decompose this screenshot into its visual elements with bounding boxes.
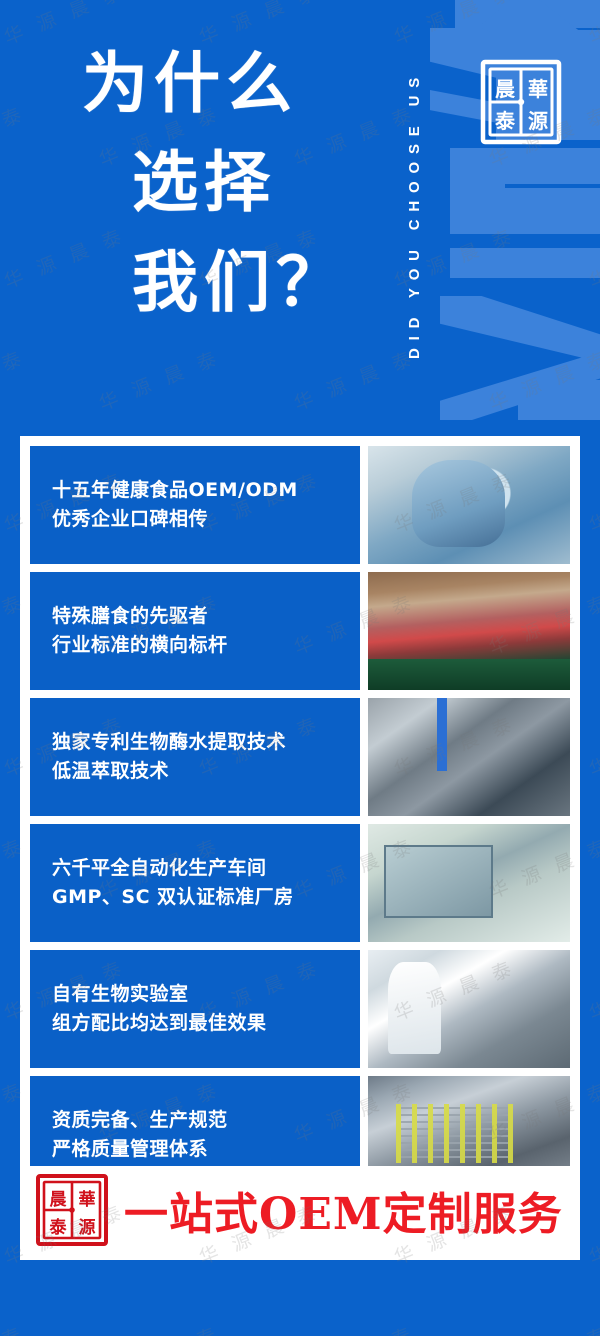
feature-line-1: 独家专利生物酶水提取技术 <box>52 728 360 757</box>
feature-text-block: 自有生物实验室 组方配比均达到最佳效果 <box>30 950 360 1068</box>
svg-text:源: 源 <box>79 1217 96 1238</box>
feature-photo <box>368 824 570 942</box>
feature-row[interactable]: 自有生物实验室 组方配比均达到最佳效果 <box>30 950 570 1068</box>
feature-row[interactable]: 特殊膳食的先驱者 行业标准的横向标杆 <box>30 572 570 690</box>
vertical-english-text: DID YOU CHOOSE US <box>407 69 424 358</box>
feature-text-block: 特殊膳食的先驱者 行业标准的横向标杆 <box>30 572 360 690</box>
vertical-english-subtitle: DID YOU CHOOSE US <box>402 28 428 400</box>
svg-text:華: 華 <box>79 1190 96 1210</box>
feature-row[interactable]: 六千平全自动化生产车间 GMP、SC 双认证标准厂房 <box>30 824 570 942</box>
deco-shape-h-1 <box>450 148 600 184</box>
svg-text:晨: 晨 <box>495 77 516 101</box>
features-panel: 十五年健康食品OEM/ODM 优秀企业口碑相传 特殊膳食的先驱者 行业标准的横向… <box>20 436 580 1260</box>
company-seal-white-icon: 晨 泰 華 源 <box>478 56 564 148</box>
poster-root: 为什么 选择 我们？ DID YOU CHOOSE US 晨 泰 華 源 <box>0 0 600 1336</box>
feature-text-block: 十五年健康食品OEM/ODM 优秀企业口碑相传 <box>30 446 360 564</box>
deco-shape-h-4 <box>450 248 600 278</box>
feature-line-1: 资质完备、生产规范 <box>52 1106 360 1135</box>
feature-photo <box>368 572 570 690</box>
feature-line-1: 自有生物实验室 <box>52 980 360 1009</box>
svg-text:晨: 晨 <box>50 1190 68 1210</box>
watermark-text: 华 源 晨 泰 <box>95 1319 225 1336</box>
watermark-text: 华 源 晨 泰 <box>95 343 225 416</box>
feature-line-2: GMP、SC 双认证标准厂房 <box>52 883 360 912</box>
company-seal-red-icon: 晨 泰 華 源 <box>34 1171 110 1249</box>
footer-slogan-text: 一站式OEM定制服务 <box>124 1178 563 1242</box>
watermark-text: 华 源 晨 泰 <box>195 0 325 50</box>
svg-text:華: 華 <box>528 77 548 101</box>
deco-shape-h-3 <box>505 188 600 234</box>
watermark-text: 华 源 晨 泰 <box>0 1319 29 1336</box>
watermark-text: 华 源 晨 泰 <box>585 465 600 538</box>
svg-text:源: 源 <box>528 109 548 133</box>
watermark-text: 华 源 晨 泰 <box>585 1197 600 1270</box>
watermark-text: 华 源 晨 泰 <box>585 953 600 1026</box>
feature-row[interactable]: 独家专利生物酶水提取技术 低温萃取技术 <box>30 698 570 816</box>
features-list: 十五年健康食品OEM/ODM 优秀企业口碑相传 特殊膳食的先驱者 行业标准的横向… <box>30 446 570 1194</box>
watermark-text: 华 源 晨 泰 <box>485 343 600 416</box>
watermark-text: 华 源 晨 泰 <box>485 1319 600 1336</box>
watermark-text: 华 源 晨 泰 <box>0 343 29 416</box>
deco-shape-w-2 <box>440 0 600 60</box>
feature-line-2: 行业标准的横向标杆 <box>52 631 360 660</box>
svg-text:泰: 泰 <box>50 1217 68 1238</box>
watermark-text: 华 源 晨 泰 <box>585 709 600 782</box>
feature-line-2: 优秀企业口碑相传 <box>52 505 360 534</box>
headline-line-3: 我们？ <box>132 249 348 316</box>
watermark-text: 华 源 晨 泰 <box>290 343 420 416</box>
feature-line-2: 组方配比均达到最佳效果 <box>52 1009 360 1038</box>
headline-line-2: 选择 <box>132 149 348 216</box>
watermark-text: 华 源 晨 泰 <box>290 1319 420 1336</box>
feature-row[interactable]: 十五年健康食品OEM/ODM 优秀企业口碑相传 <box>30 446 570 564</box>
deco-shape-y-1 <box>440 296 600 362</box>
deco-shape-y-2 <box>440 346 600 420</box>
feature-photo <box>368 446 570 564</box>
feature-text-block: 六千平全自动化生产车间 GMP、SC 双认证标准厂房 <box>30 824 360 942</box>
svg-text:泰: 泰 <box>494 109 516 133</box>
deco-shape-w-1 <box>455 0 600 28</box>
feature-line-2: 低温萃取技术 <box>52 757 360 786</box>
deco-shape-h-2 <box>450 148 505 234</box>
feature-photo <box>368 950 570 1068</box>
watermark-text: 华 源 晨 泰 <box>585 221 600 294</box>
watermark-text: 华 源 晨 泰 <box>585 0 600 50</box>
headline-line-1: 为什么 <box>82 50 348 117</box>
feature-line-1: 特殊膳食的先驱者 <box>52 602 360 631</box>
deco-shape-y-3 <box>518 380 600 420</box>
watermark-text: 华 源 晨 泰 <box>0 99 29 172</box>
feature-text-block: 独家专利生物酶水提取技术 低温萃取技术 <box>30 698 360 816</box>
feature-photo <box>368 698 570 816</box>
footer-slogan-bar: 晨 泰 華 源 一站式OEM定制服务 <box>20 1166 580 1254</box>
page-title: 为什么 选择 我们？ <box>82 50 348 316</box>
feature-line-1: 六千平全自动化生产车间 <box>52 854 360 883</box>
watermark-text: 华 源 晨 泰 <box>0 0 129 50</box>
feature-line-1: 十五年健康食品OEM/ODM <box>52 476 360 505</box>
feature-line-2: 严格质量管理体系 <box>52 1135 360 1164</box>
